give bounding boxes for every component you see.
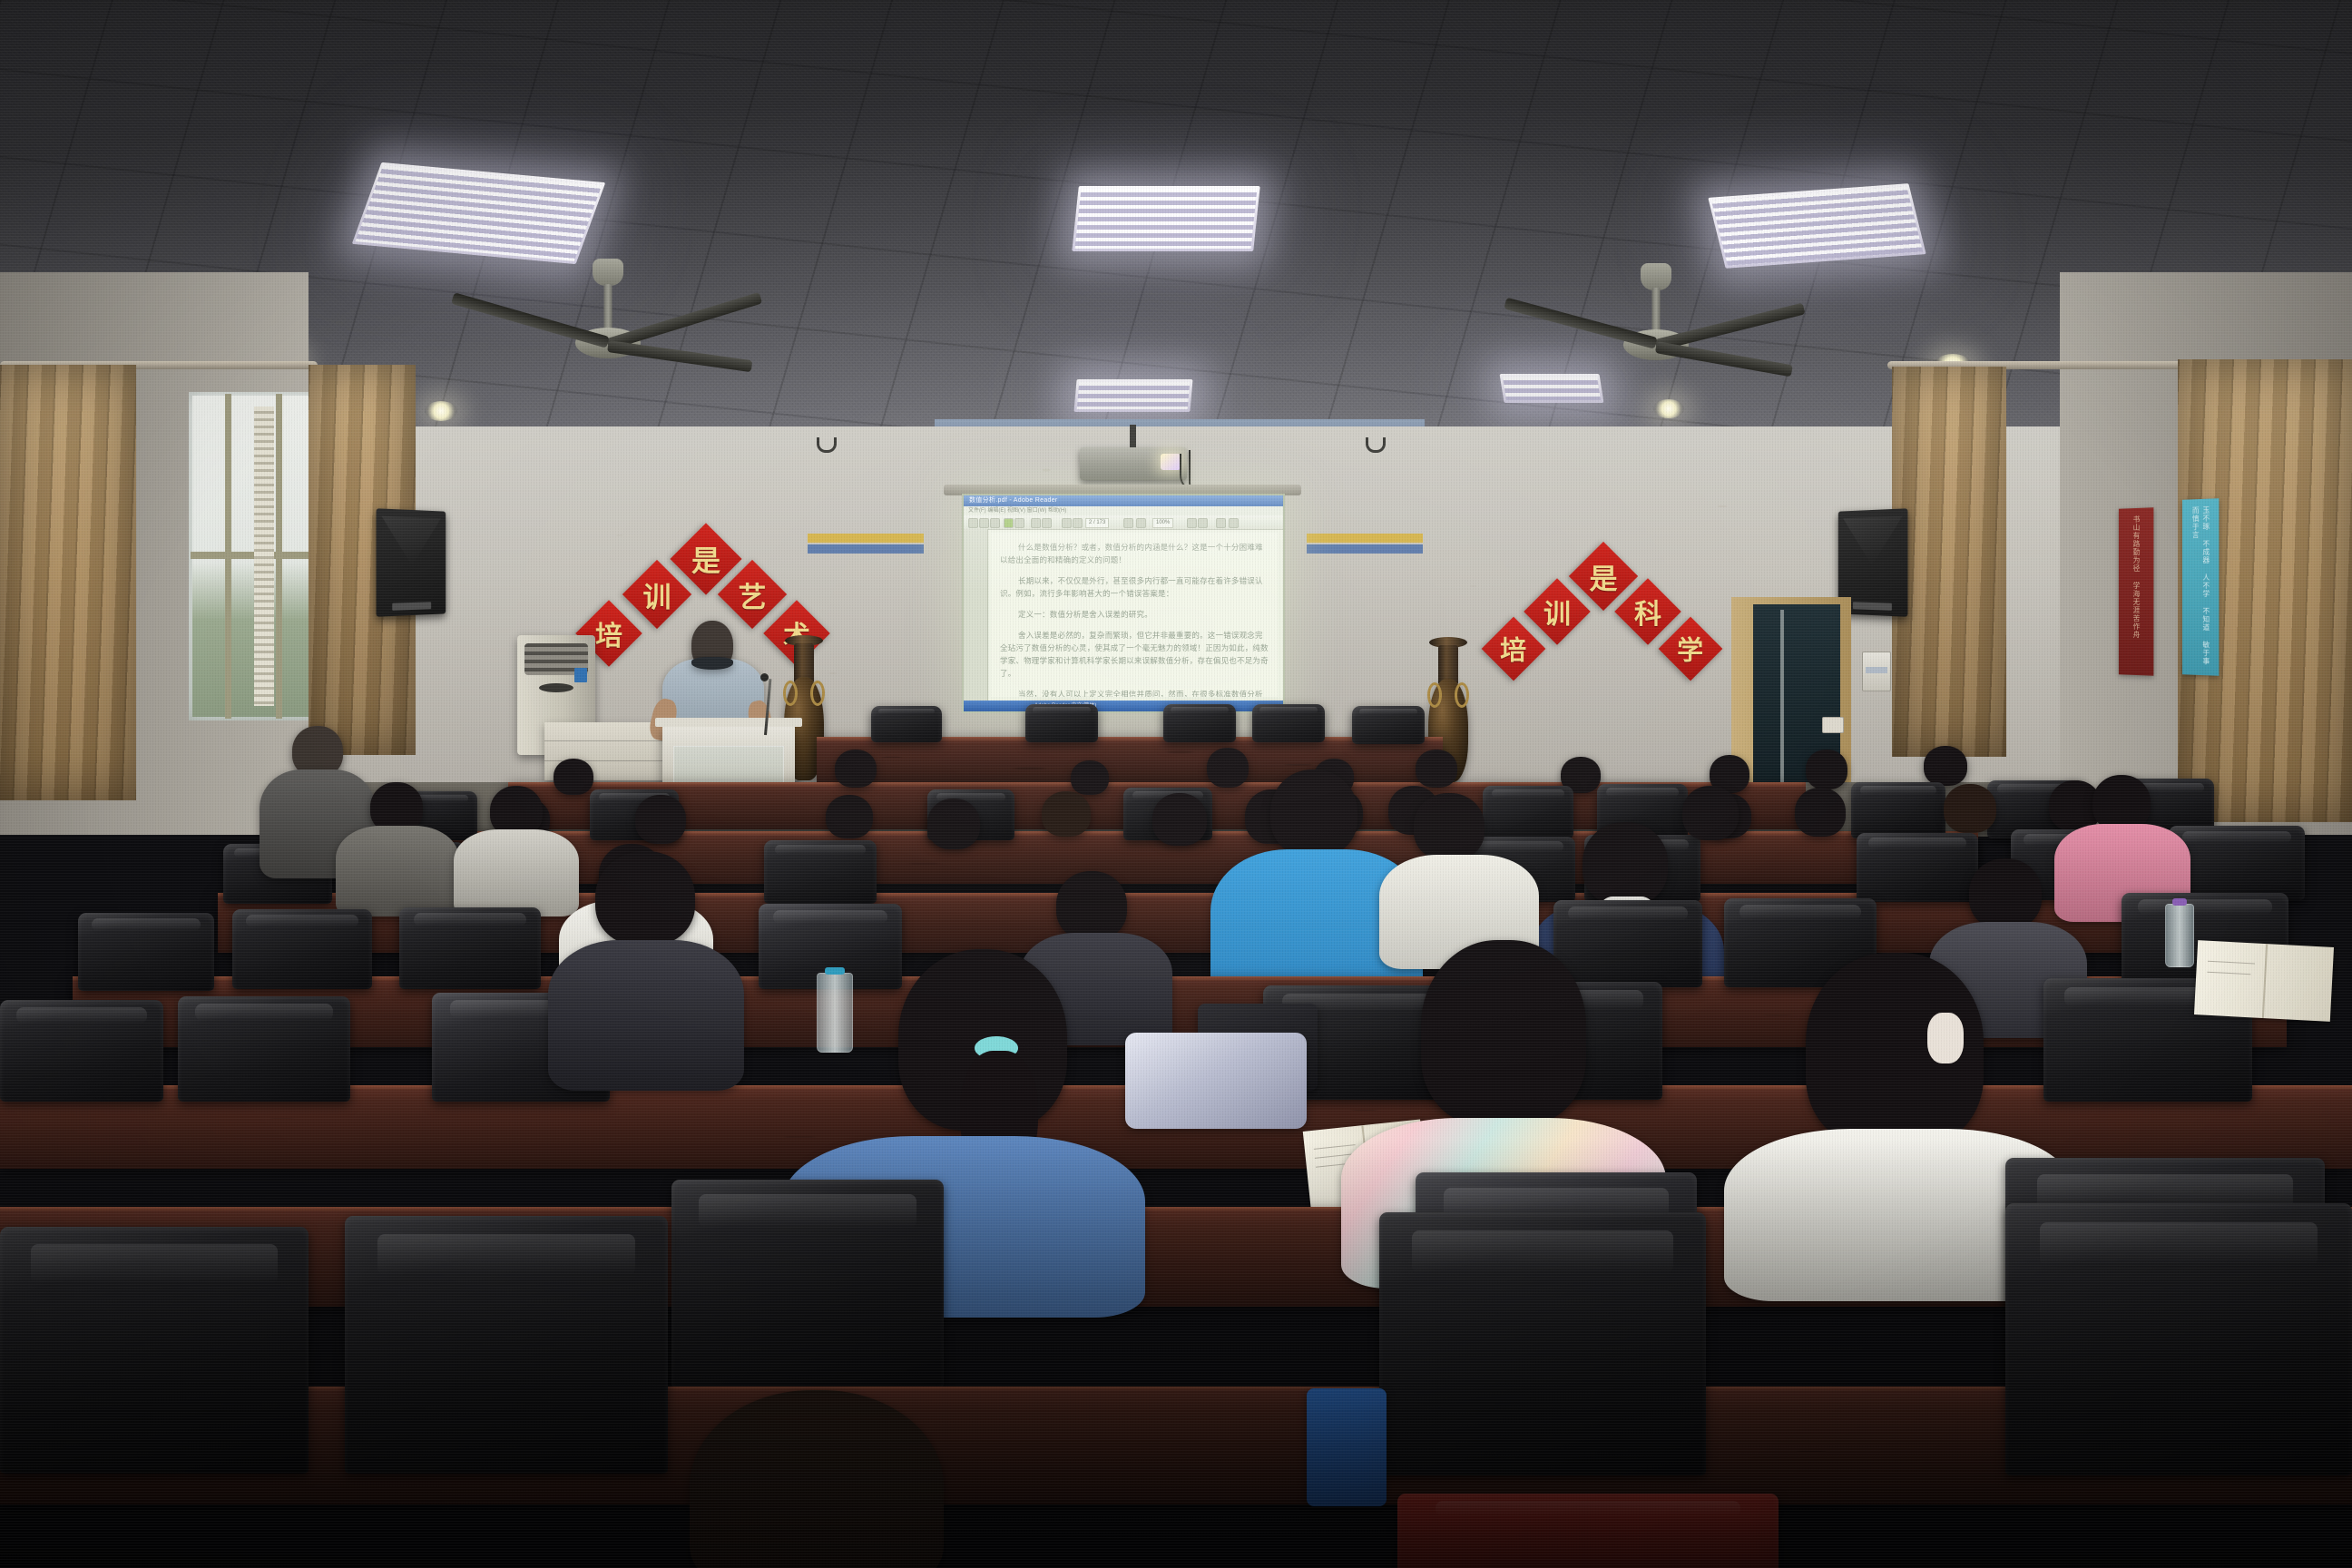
breaker-switch[interactable] (1866, 667, 1887, 673)
ceiling-fan-left (454, 259, 762, 367)
wall-sign-character: 艺 (739, 574, 767, 615)
fan-down-rod (604, 284, 612, 331)
attendee-head (1924, 746, 1967, 786)
wall-sign-character: 训 (643, 574, 671, 615)
speaker-grille (381, 516, 440, 566)
podium-top-surface (655, 718, 802, 727)
fluorescent-tubes (1503, 377, 1601, 400)
toolbar-icon-open (968, 518, 978, 528)
attendee-torso (548, 940, 744, 1091)
seat[interactable] (2005, 1203, 2352, 1475)
attendee-head (826, 795, 873, 838)
fan-ceiling-cap (593, 259, 623, 286)
attendee-head-foreground (690, 1390, 944, 1568)
attendee-head (1207, 748, 1249, 788)
wall-sign-character: 科 (1634, 592, 1661, 632)
ceiling-light-panel-far-right (1499, 374, 1603, 403)
pdf-navigation-pane (964, 529, 988, 701)
vase-handle (1455, 682, 1469, 708)
toolbar-icon-prev-page (1062, 518, 1072, 528)
calligraphy-banner-teal: 玉不琢 不成器 人不学 不知道 敏于事 而慎于言 (2182, 498, 2219, 676)
seat[interactable] (399, 907, 541, 989)
wall-accent-band-blue-left (808, 544, 924, 554)
seat[interactable] (1252, 704, 1325, 742)
attendee-head (635, 795, 686, 844)
attendee-head (1806, 750, 1847, 789)
calligraphy-banner-red: 书山有路勤为径 学海无涯苦作舟 (2119, 507, 2153, 675)
fan-blade (1504, 298, 1658, 349)
ceiling-downlight (425, 401, 457, 421)
seat[interactable] (1851, 782, 1945, 838)
seat[interactable] (1025, 704, 1098, 742)
vase-handle (810, 681, 825, 706)
ceiling-light-panel-right (1708, 183, 1926, 269)
wall-light-switch[interactable] (1822, 717, 1844, 733)
ac-display-panel (539, 683, 573, 692)
pdf-toolbar: 2 / 173 100% (964, 515, 1283, 530)
seat[interactable] (178, 996, 350, 1102)
pdf-page-indicator: 2 / 173 (1085, 518, 1109, 528)
wall-accent-band-gold-right (1307, 534, 1423, 543)
attendee-head-blue-shirt (1270, 769, 1357, 857)
blue-bag[interactable] (1307, 1388, 1387, 1506)
toolbar-icon-fullscreen (1216, 518, 1226, 528)
toolbar-icon-find (1229, 518, 1239, 528)
attendee-head (1795, 788, 1846, 837)
seat[interactable] (78, 913, 214, 991)
attendee-head (1152, 793, 1207, 846)
folded-clothing[interactable] (1125, 1033, 1307, 1129)
fluorescent-tubes (1075, 189, 1258, 249)
pdf-paragraph: 什么是数值分析？或者，数值分析的内涵是什么？这是一个十分困难难以给出全面的和精确… (1000, 541, 1269, 566)
pdf-zoom-level: 100% (1152, 518, 1173, 528)
wall-sign-character: 培 (595, 613, 622, 653)
pdf-paragraph: 长期以来，不仅仅是外行，甚至很多内行都一直可能存在着许多错误认识。例如，流行多年… (1000, 574, 1269, 600)
attendee-head (1421, 940, 1586, 1125)
pdf-paragraph: 当然，没有人可以上定义完全相信并质问，然而，在很多标准数值分析教材和课程中确实占… (1000, 688, 1269, 697)
seat[interactable] (232, 909, 372, 989)
toolbar-icon-next-page (1073, 518, 1083, 528)
seat-red-foreground[interactable] (1397, 1494, 1779, 1568)
toolbar-icon-email (1004, 518, 1014, 528)
wall-accent-band-blue-right (1307, 544, 1423, 554)
seat[interactable] (1857, 833, 1978, 902)
attendee-head (1416, 750, 1457, 788)
toolbar-icon-fit-page (1042, 518, 1052, 528)
pdf-window-title: 数值分析.pdf - Adobe Reader (964, 495, 1283, 506)
seat[interactable] (671, 1180, 944, 1388)
fan-ceiling-cap (1641, 263, 1671, 290)
water-bottle[interactable] (817, 973, 853, 1053)
wall-accent-band-gold-left (808, 534, 924, 543)
seat[interactable] (1483, 786, 1573, 838)
pdf-paragraph: 舍入误差是必然的，复杂而繁琐，但它并非最重要的。这一错误观念完全玷污了数值分析的… (1000, 629, 1269, 680)
seat[interactable] (1352, 706, 1425, 744)
presenter-collar (691, 657, 733, 670)
curtain-left-outer (0, 365, 136, 800)
toolbar-icon-print (979, 518, 989, 528)
fan-blade (451, 292, 610, 348)
attendee-head (1042, 791, 1091, 837)
vase-neck (1438, 645, 1458, 683)
toolbar-icon-rotate (1198, 518, 1208, 528)
fan-blade (606, 292, 762, 350)
seat[interactable] (345, 1216, 668, 1474)
banner-text: 玉不琢 不成器 人不学 不知道 敏于事 而慎于言 (2190, 506, 2211, 676)
book-text-line (2208, 961, 2255, 965)
attendee-head (554, 759, 593, 795)
wall-sign-character: 培 (1500, 630, 1526, 668)
fan-down-rod (1652, 288, 1661, 333)
electrical-panel[interactable] (1862, 652, 1891, 691)
attendee-head (1056, 871, 1127, 940)
water-bottle[interactable] (2165, 904, 2194, 967)
ac-energy-label (574, 668, 587, 682)
attendee-head (1969, 858, 2042, 929)
book-text-line (2207, 972, 2250, 975)
toolbar-icon-save (990, 518, 1000, 528)
speaker-brand-badge (392, 602, 431, 611)
bottle-cap (2172, 898, 2188, 906)
ceiling-light-panel-center (1072, 186, 1260, 251)
seat[interactable] (871, 706, 942, 742)
book-text-line (1314, 1144, 1356, 1150)
seat[interactable] (1553, 900, 1702, 987)
attendee-head (1071, 760, 1109, 795)
fluorescent-tubes (1077, 382, 1191, 409)
fan-blade (1654, 303, 1805, 351)
attendee-torso (336, 826, 459, 916)
seat[interactable] (1379, 1212, 1706, 1475)
attendee-head (1414, 793, 1485, 860)
wall-sign-character: 学 (1677, 630, 1703, 668)
speaker-grille (1843, 516, 1902, 566)
ceiling-fan-right (1506, 263, 1806, 367)
vase-handle (783, 681, 798, 706)
vase-neck (794, 643, 814, 681)
projector-lens (1161, 454, 1181, 470)
podium-microphone-head (760, 673, 769, 681)
banner-text: 书山有路勤为径 学海无涯苦作舟 (2131, 515, 2141, 639)
fluorescent-tubes (1711, 186, 1923, 265)
toolbar-icon-select (1014, 518, 1024, 528)
window-blind-strip (254, 407, 274, 706)
toolbar-icon-zoom-in (1136, 518, 1146, 528)
attendee-torso (454, 829, 579, 916)
seat[interactable] (1163, 704, 1236, 742)
projection-screen: 数值分析.pdf - Adobe Reader 文件(F) 编辑(E) 视图(V… (962, 494, 1285, 713)
toolbar-icon-zoom-out (1123, 518, 1133, 528)
seat[interactable] (0, 1227, 309, 1474)
toolbar-icon-snapshot (1031, 518, 1041, 528)
window-left (189, 392, 327, 720)
fluorescent-tubes (356, 165, 603, 261)
fan-blade (607, 340, 752, 372)
attendee-head (1682, 786, 1739, 840)
attendee-head (927, 799, 980, 849)
vase-handle (1427, 682, 1442, 708)
wall-sign-character: 是 (691, 538, 720, 580)
toolbar-icon-fit-width (1187, 518, 1197, 528)
curtain-right-inner (1892, 367, 2006, 757)
lecture-hall-photo: 数值分析.pdf - Adobe Reader 文件(F) 编辑(E) 视图(V… (0, 0, 2352, 1568)
hair-scrunchie (1927, 1013, 1964, 1063)
open-book[interactable] (2194, 940, 2334, 1022)
speaker-brand-badge (1853, 602, 1892, 611)
seat[interactable] (764, 840, 877, 904)
wall-sign-character: 是 (1590, 556, 1618, 597)
pdf-paragraph: 定义一：数值分析是舍入误差的研究。 (1000, 608, 1269, 621)
attendee-head (835, 750, 877, 788)
ceiling-projector (1080, 447, 1187, 480)
attendee-head-vest (1583, 822, 1668, 906)
bottle-cap (825, 967, 844, 975)
attendee-head (1944, 784, 1996, 833)
ceiling-light-panel-far-center (1073, 379, 1192, 412)
wall-speaker-left (377, 508, 446, 617)
door-edge-highlight (1780, 610, 1784, 791)
attendee-head (2092, 775, 2151, 831)
seat[interactable] (0, 1000, 163, 1102)
attendee-head (595, 851, 695, 946)
book-spine (2262, 944, 2268, 1018)
ceiling-downlight (1653, 399, 1684, 418)
pdf-document-page: 什么是数值分析？或者，数值分析的内涵是什么？这是一个十分困难难以给出全面的和精确… (991, 533, 1278, 697)
wall-sign-character: 训 (1543, 592, 1571, 632)
